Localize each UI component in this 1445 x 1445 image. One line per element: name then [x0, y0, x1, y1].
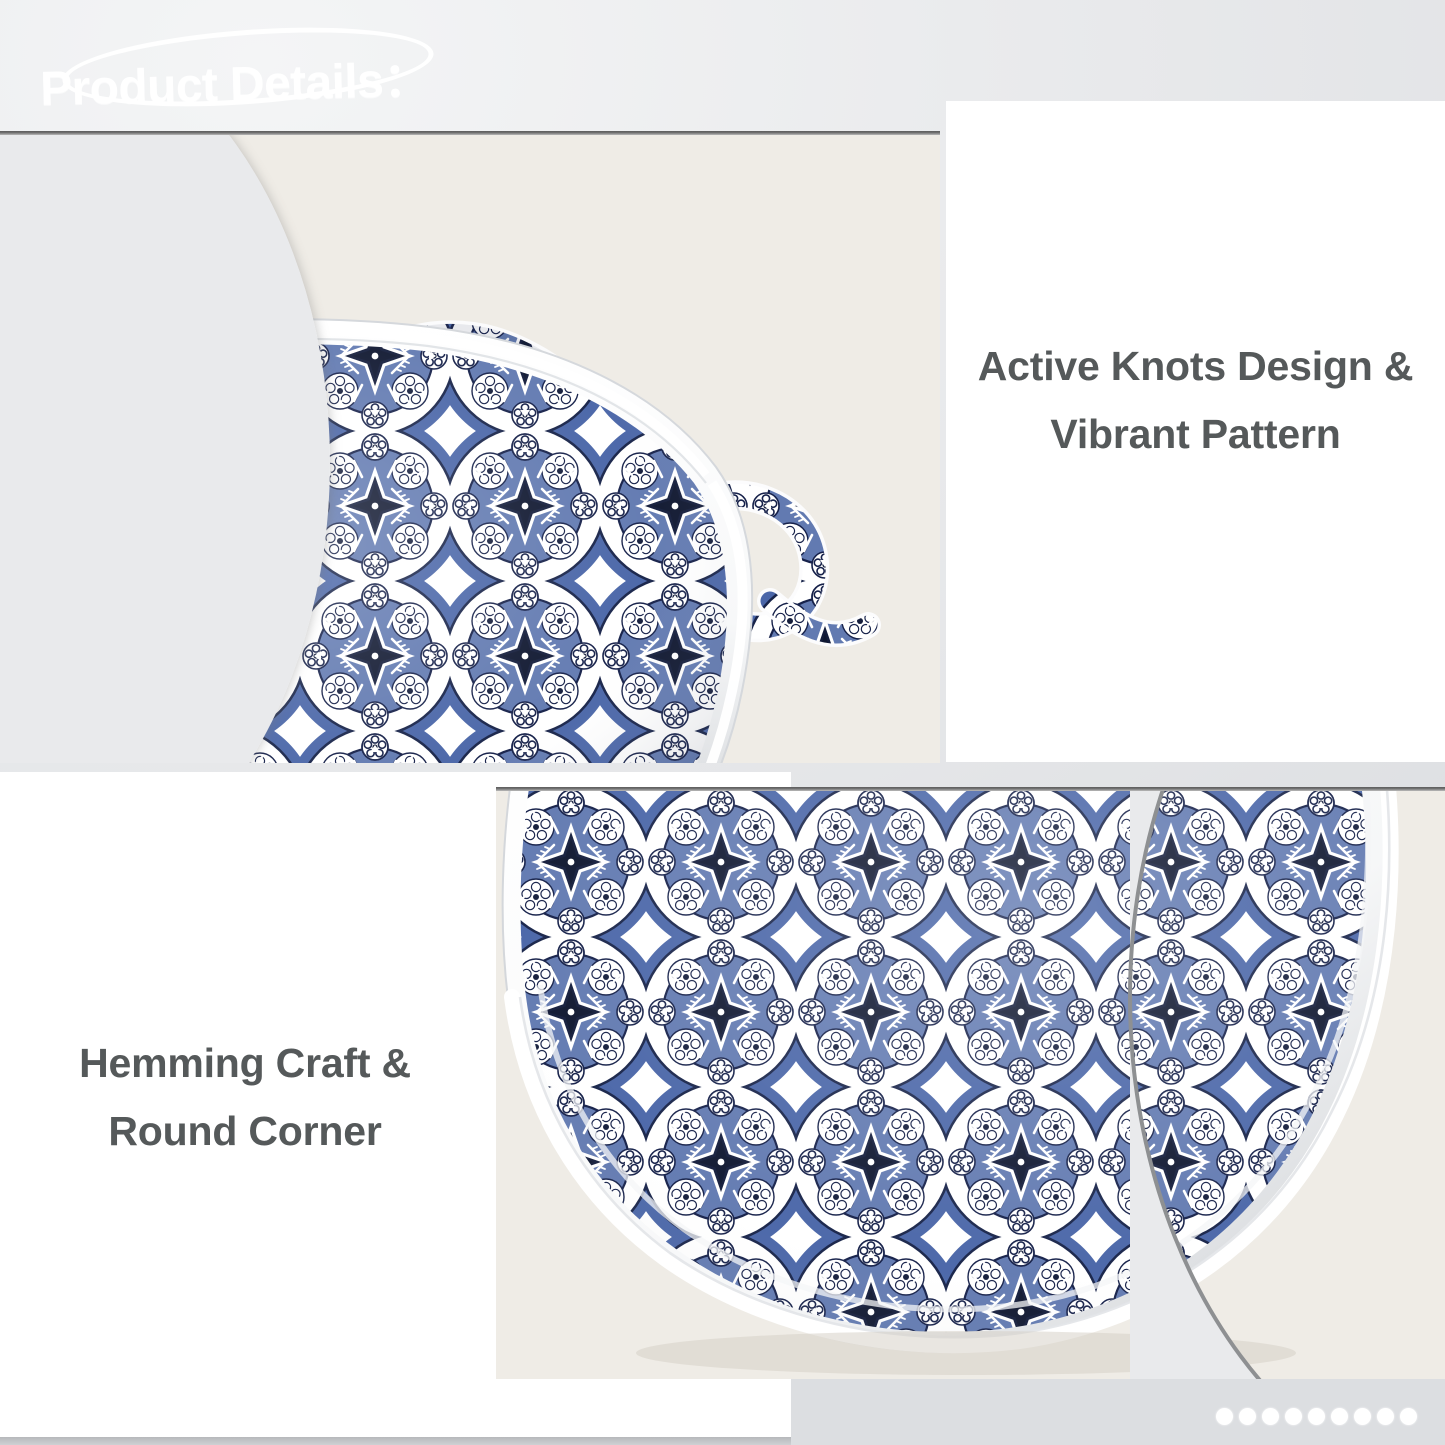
pagination-dots[interactable]	[1216, 1406, 1417, 1426]
feature-1-caption-panel: Active Knots Design & Vibrant Pattern	[946, 101, 1445, 762]
feature-2-caption-line-2: Round Corner	[30, 1098, 460, 1166]
cushion-with-ties-photo	[0, 131, 940, 763]
pagination-dot[interactable]	[1285, 1408, 1302, 1425]
page-title-block: Product Details：	[22, 28, 452, 110]
feature-2-caption: Hemming Craft & Round Corner	[30, 1030, 460, 1165]
panel-divider-bottom	[496, 787, 1445, 791]
panel-rounded-corner-mask-top	[0, 131, 330, 763]
pagination-dot[interactable]	[1308, 1408, 1325, 1425]
page-title: Product Details：	[39, 39, 451, 119]
feature-2-caption-line-1: Hemming Craft &	[30, 1030, 460, 1098]
infographic-canvas: Product Details：	[0, 0, 1445, 1445]
pagination-dot[interactable]	[1377, 1408, 1394, 1425]
pagination-dot[interactable]	[1239, 1408, 1256, 1425]
feature-1-caption: Active Knots Design & Vibrant Pattern	[970, 333, 1421, 468]
pagination-dot[interactable]	[1262, 1408, 1279, 1425]
footer-band	[0, 1437, 791, 1445]
panel-divider-top	[0, 131, 940, 135]
pagination-dot[interactable]	[1400, 1408, 1417, 1425]
pagination-dot[interactable]	[1216, 1408, 1233, 1425]
cushion-round-corner-photo	[496, 787, 1445, 1379]
pagination-dot[interactable]	[1354, 1408, 1371, 1425]
pagination-dot[interactable]	[1331, 1408, 1348, 1425]
feature-1-caption-line-1: Active Knots Design &	[970, 333, 1421, 401]
feature-1-caption-line-2: Vibrant Pattern	[970, 401, 1421, 469]
